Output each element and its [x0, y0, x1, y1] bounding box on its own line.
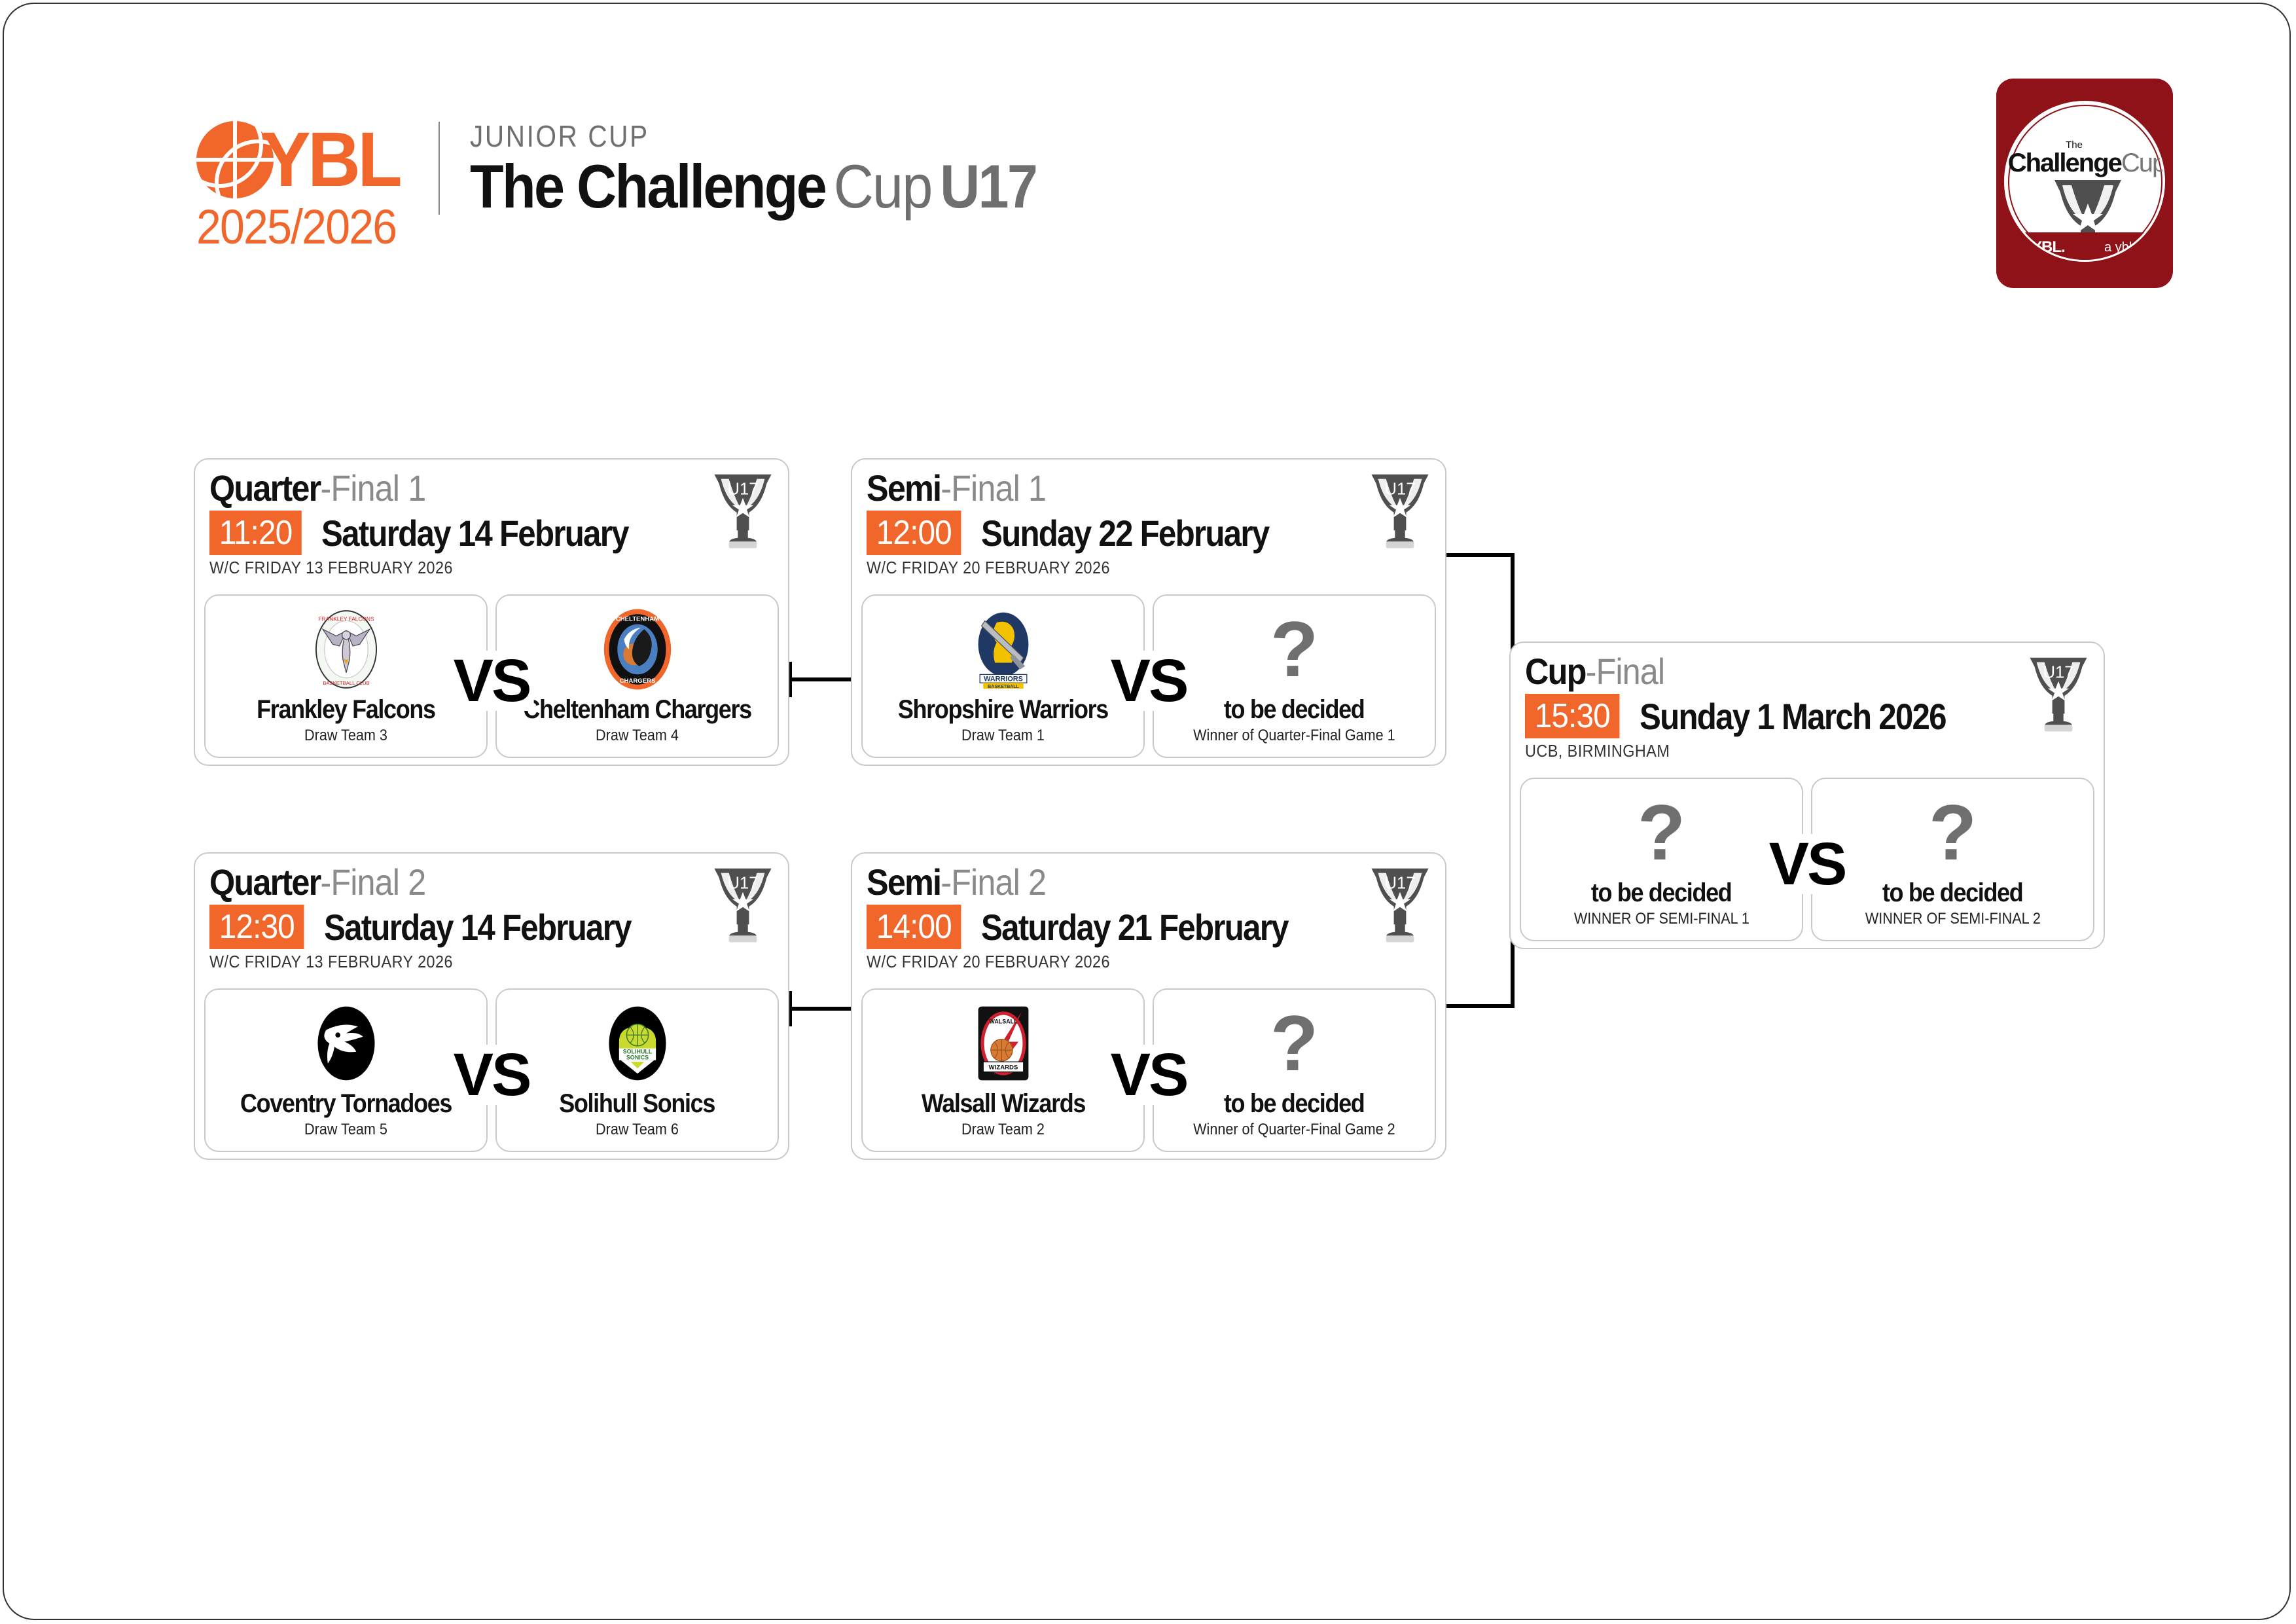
- match-body: FRANKLEY FALCONS BASKETBALL CLUB Frankle…: [195, 594, 788, 767]
- match-body: WARRIORS BASKETBALL Shropshire Warriors …: [852, 594, 1445, 767]
- match-note: W/C FRIDAY 13 FEBRUARY 2026: [209, 952, 719, 972]
- team-card[interactable]: Coventry Tornadoes Draw Team 5: [204, 988, 488, 1152]
- question-mark-icon: ?: [1270, 1001, 1318, 1085]
- match-header: Semi -Final 2 14:00 Saturday 21 February…: [852, 854, 1445, 988]
- connector-sf2-out: [1443, 1004, 1515, 1008]
- svg-text:U17: U17: [1384, 480, 1415, 499]
- match-venue: UCB, BIRMINGHAM: [1525, 741, 2034, 761]
- team-card[interactable]: WALSALL WIZARDS Walsall Wizards Draw Tea…: [861, 988, 1145, 1152]
- svg-text:BASKETBALL CLUB: BASKETBALL CLUB: [323, 680, 369, 686]
- badge-challenge: Challenge: [2008, 149, 2121, 177]
- team-name: to be decided: [1224, 695, 1364, 724]
- team-card[interactable]: FRANKLEY FALCONS BASKETBALL CLUB Frankle…: [204, 594, 488, 758]
- connector-qf1-sf1: [788, 677, 860, 681]
- match-date: Saturday 14 February: [321, 512, 628, 554]
- team-name: Solihull Sonics: [560, 1089, 715, 1118]
- svg-text:U17: U17: [1384, 875, 1415, 893]
- team-name: Shropshire Warriors: [898, 695, 1108, 724]
- match-body: ? to be decided WINNER OF SEMI-FINAL 1 ?…: [1511, 778, 2104, 950]
- trophy-icon: U17: [1369, 863, 1431, 949]
- question-mark-icon: ?: [1638, 791, 1685, 875]
- team-name: Cheltenham Chargers: [523, 695, 751, 724]
- team-sub: Draw Team 4: [596, 727, 679, 745]
- team-name: to be decided: [1224, 1089, 1364, 1118]
- match-quarter-final-1[interactable]: Quarter -Final 1 11:20 Saturday 14 Febru…: [194, 458, 789, 766]
- badge-cup: Cup: [2121, 149, 2165, 177]
- trophy-icon: U17: [2028, 652, 2089, 738]
- svg-text:U17: U17: [2043, 664, 2073, 682]
- team-name: to be decided: [1591, 878, 1731, 907]
- trophy-icon: U17: [712, 469, 774, 555]
- team-name: to be decided: [1882, 878, 2022, 907]
- team-sub: WINNER OF SEMI-FINAL 2: [1865, 910, 2040, 928]
- team-card[interactable]: SOLIHULL SONICS Solihull Sonics Draw Tea…: [495, 988, 779, 1152]
- team-name: Coventry Tornadoes: [240, 1089, 452, 1118]
- badge-ybl-mark: YBL.: [2017, 238, 2065, 257]
- vs-label: VS: [450, 651, 534, 711]
- vs-label: VS: [1107, 1045, 1191, 1105]
- team-name: Frankley Falcons: [257, 695, 435, 724]
- tournament-bracket: Quarter -Final 1 11:20 Saturday 14 Febru…: [0, 0, 2296, 1624]
- round-light: -Final 1: [941, 469, 1046, 508]
- team-sub: Draw Team 5: [304, 1121, 387, 1139]
- team-sub: Winner of Quarter-Final Game 1: [1193, 727, 1395, 745]
- question-mark-icon: ?: [1929, 791, 1977, 875]
- wizards-crest-icon: WALSALL WIZARDS: [961, 1001, 1045, 1085]
- basketball-icon-small: [2017, 241, 2030, 254]
- team-sub: Winner of Quarter-Final Game 2: [1193, 1121, 1395, 1139]
- match-time: 12:00: [867, 511, 961, 555]
- svg-text:U17: U17: [727, 480, 758, 499]
- team-sub: Draw Team 3: [304, 727, 387, 745]
- vs-label: VS: [1765, 834, 1850, 894]
- charger-crest-icon: CHELTENHAM CHARGERS: [596, 607, 679, 691]
- trophy-icon: U17: [1369, 469, 1431, 555]
- team-sub: Draw Team 2: [961, 1121, 1045, 1139]
- match-note: W/C FRIDAY 13 FEBRUARY 2026: [209, 558, 719, 578]
- team-card[interactable]: ? to be decided WINNER OF SEMI-FINAL 2: [1811, 778, 2094, 941]
- match-note: W/C FRIDAY 20 FEBRUARY 2026: [867, 558, 1376, 578]
- match-date: Sunday 1 March 2026: [1640, 695, 1946, 738]
- match-header: Semi -Final 1 12:00 Sunday 22 February W…: [852, 460, 1445, 594]
- badge-tagline: a ybl cup: [2104, 240, 2157, 255]
- match-time: 11:20: [209, 511, 302, 555]
- vs-label: VS: [1107, 651, 1191, 711]
- svg-text:CHARGERS: CHARGERS: [619, 677, 655, 685]
- svg-text:SONICS: SONICS: [626, 1054, 648, 1060]
- svg-text:WIZARDS: WIZARDS: [988, 1064, 1018, 1072]
- match-semi-final-1[interactable]: Semi -Final 1 12:00 Sunday 22 February W…: [851, 458, 1446, 766]
- svg-text:WARRIORS: WARRIORS: [984, 676, 1023, 683]
- match-note: W/C FRIDAY 20 FEBRUARY 2026: [867, 952, 1376, 972]
- team-card[interactable]: CHELTENHAM CHARGERS Cheltenham Chargers …: [495, 594, 779, 758]
- match-time: 12:30: [209, 905, 304, 949]
- match-date: Sunday 22 February: [981, 512, 1268, 554]
- badge-band: YBL. a ybl cup: [2006, 232, 2165, 262]
- match-cup-final[interactable]: Cup -Final 15:30 Sunday 1 March 2026 UCB…: [1509, 641, 2105, 949]
- badge-text: The ChallengeCup: [2006, 141, 2165, 176]
- match-time: 15:30: [1525, 694, 1620, 738]
- svg-text:CHELTENHAM: CHELTENHAM: [615, 615, 658, 623]
- round-bold: Quarter: [209, 863, 320, 902]
- team-sub: Draw Team 1: [961, 727, 1045, 745]
- svg-text:BASKETBALL: BASKETBALL: [988, 685, 1019, 689]
- round-bold: Cup: [1525, 652, 1586, 691]
- round-light: -Final 2: [941, 863, 1046, 902]
- connector-sf1-out: [1443, 553, 1515, 557]
- connector-qf2-sf2: [788, 1007, 860, 1011]
- svg-text:FRANKLEY FALCONS: FRANKLEY FALCONS: [318, 615, 374, 622]
- round-light: -Final: [1586, 652, 1665, 691]
- match-semi-final-2[interactable]: Semi -Final 2 14:00 Saturday 21 February…: [851, 852, 1446, 1160]
- match-header: Cup -Final 15:30 Sunday 1 March 2026 UCB…: [1511, 643, 2104, 778]
- match-quarter-final-2[interactable]: Quarter -Final 2 12:30 Saturday 14 Febru…: [194, 852, 789, 1160]
- round-bold: Quarter: [209, 469, 320, 508]
- warriors-crest-icon: WARRIORS BASKETBALL: [961, 607, 1045, 691]
- question-mark-icon: ?: [1270, 607, 1318, 691]
- round-light: -Final 1: [320, 469, 425, 508]
- team-sub: WINNER OF SEMI-FINAL 1: [1573, 910, 1749, 928]
- round-light: -Final 2: [320, 863, 425, 902]
- trophy-icon: U17: [712, 863, 774, 949]
- match-body: WALSALL WIZARDS Walsall Wizards Draw Tea…: [852, 988, 1445, 1161]
- falcon-crest-icon: FRANKLEY FALCONS BASKETBALL CLUB: [304, 607, 388, 691]
- sonics-crest-icon: SOLIHULL SONICS: [596, 1001, 679, 1085]
- match-header: Quarter -Final 2 12:30 Saturday 14 Febru…: [195, 854, 788, 988]
- match-time: 14:00: [867, 905, 961, 949]
- team-sub: Draw Team 6: [596, 1121, 679, 1139]
- team-card[interactable]: WARRIORS BASKETBALL Shropshire Warriors …: [861, 594, 1145, 758]
- team-name: Walsall Wizards: [921, 1089, 1085, 1118]
- team-card[interactable]: ? to be decided Winner of Quarter-Final …: [1153, 988, 1436, 1152]
- match-header: Quarter -Final 1 11:20 Saturday 14 Febru…: [195, 460, 788, 594]
- match-date: Saturday 21 February: [981, 906, 1288, 948]
- vs-label: VS: [450, 1045, 534, 1105]
- team-card[interactable]: ? to be decided Winner of Quarter-Final …: [1153, 594, 1436, 758]
- match-date: Saturday 14 February: [324, 906, 631, 948]
- team-card[interactable]: ? to be decided WINNER OF SEMI-FINAL 1: [1520, 778, 1803, 941]
- tornado-crest-icon: [304, 1001, 388, 1085]
- round-bold: Semi: [867, 863, 941, 902]
- match-body: Coventry Tornadoes Draw Team 5 SOLIHULL …: [195, 988, 788, 1161]
- svg-text:U17: U17: [727, 875, 758, 893]
- round-bold: Semi: [867, 469, 941, 508]
- svg-text:WALSALL: WALSALL: [989, 1018, 1018, 1024]
